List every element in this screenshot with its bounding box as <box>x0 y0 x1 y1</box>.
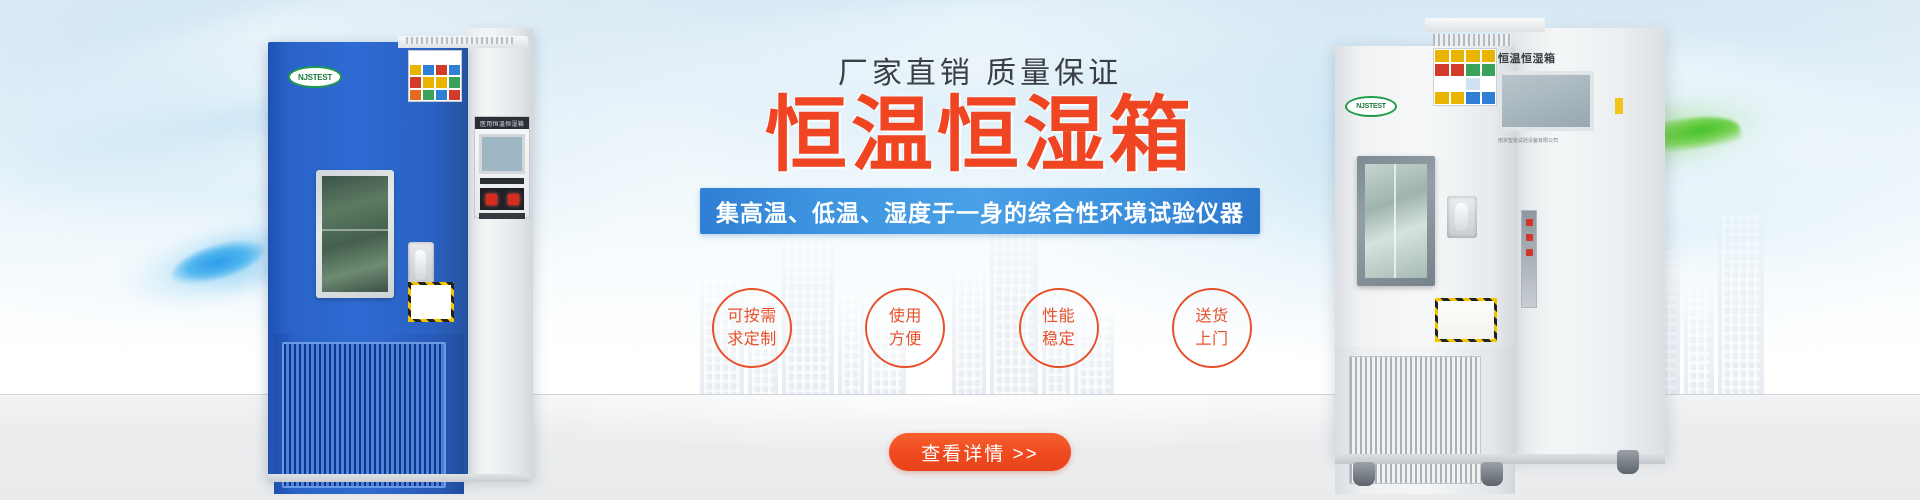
view-details-label: 查看详情 >> <box>921 439 1038 466</box>
copy-block: 厂家直销 质量保证 恒温恒湿箱 集高温、低温、湿度于一身的综合性环境试验仪器 <box>700 48 1260 234</box>
side-control-strip <box>1521 210 1537 308</box>
right-chamber-top-cap <box>1425 18 1545 32</box>
feature-circle-delivery[interactable]: 送货 上门 <box>1172 288 1252 368</box>
feature-line-1: 使用 <box>889 305 922 328</box>
left-chamber-body: NJSTEST <box>268 42 468 480</box>
caster-wheel <box>1617 450 1639 474</box>
subtitle-bar: 集高温、低温、湿度于一身的综合性环境试验仪器 <box>700 188 1260 234</box>
right-chamber-control-panel: 恒温恒湿箱 南京智能试验设备有限公司 <box>1498 50 1590 160</box>
feature-circle-list: 可按需 求定制 使用 方便 性能 稳定 送货 上门 <box>712 288 1252 368</box>
left-chamber-side-panel <box>466 28 533 480</box>
control-panel-screen <box>479 134 525 174</box>
top-vent-grill <box>406 37 516 44</box>
door-handle <box>1447 196 1477 238</box>
product-image-right-chamber: NJSTEST 恒温恒湿箱 南京智能试验设备有限公司 <box>1335 10 1665 490</box>
headline: 恒温恒湿箱 <box>700 94 1260 178</box>
feature-line-1: 送货 <box>1195 305 1228 328</box>
hazard-striped-label <box>1435 298 1497 342</box>
tagline: 厂家直销 质量保证 <box>700 48 1260 92</box>
right-chamber-viewport <box>1357 156 1435 286</box>
feature-circle-easy-use[interactable]: 使用 方便 <box>865 288 945 368</box>
feature-line-2: 方便 <box>889 328 922 351</box>
top-vent-grill <box>1433 34 1511 46</box>
control-panel-title: 恒温恒湿箱 <box>1498 50 1590 66</box>
feature-line-1: 可按需 <box>727 305 777 328</box>
caster-wheel <box>1353 462 1375 486</box>
warning-sticker-grid <box>1433 48 1497 106</box>
viewport-glass <box>1365 164 1427 278</box>
left-chamber-viewport <box>316 170 394 298</box>
caster-wheel <box>1481 462 1503 486</box>
brand-logo-badge: NJSTEST <box>1345 96 1397 117</box>
viewport-glass <box>322 176 388 292</box>
control-panel-brand: 南京智能试验设备有限公司 <box>1498 137 1590 145</box>
promo-banner: NJSTEST 医用恒温恒湿箱 <box>0 0 1920 500</box>
control-panel-screen <box>1498 71 1594 131</box>
feature-circle-stable[interactable]: 性能 稳定 <box>1019 288 1099 368</box>
view-details-button[interactable]: 查看详情 >> <box>889 433 1071 471</box>
left-chamber-control-panel: 医用恒温恒湿箱 <box>474 116 530 218</box>
side-indicator <box>1615 98 1623 114</box>
feature-line-2: 求定制 <box>727 328 777 351</box>
right-chamber-body: NJSTEST <box>1335 46 1515 458</box>
brand-logo-text: NJSTEST <box>1356 103 1385 110</box>
brand-logo-text: NJSTEST <box>298 73 332 82</box>
feature-circle-custom[interactable]: 可按需 求定制 <box>712 288 792 368</box>
brand-logo-badge: NJSTEST <box>288 66 342 88</box>
control-panel-title: 医用恒温恒湿箱 <box>475 117 529 129</box>
feature-line-2: 上门 <box>1195 328 1228 351</box>
product-image-left-chamber: NJSTEST 医用恒温恒湿箱 <box>268 28 533 480</box>
feature-line-2: 稳定 <box>1042 328 1075 351</box>
left-chamber-base <box>268 474 530 482</box>
condenser-grill <box>282 342 446 488</box>
subtitle-text: 集高温、低温、湿度于一身的综合性环境试验仪器 <box>716 194 1244 228</box>
feature-line-1: 性能 <box>1042 305 1075 328</box>
hazard-striped-label <box>408 282 454 322</box>
warning-sticker-grid <box>408 50 462 102</box>
control-panel-footer <box>479 213 525 219</box>
digital-readout <box>480 188 524 210</box>
control-panel-strip <box>480 178 524 184</box>
